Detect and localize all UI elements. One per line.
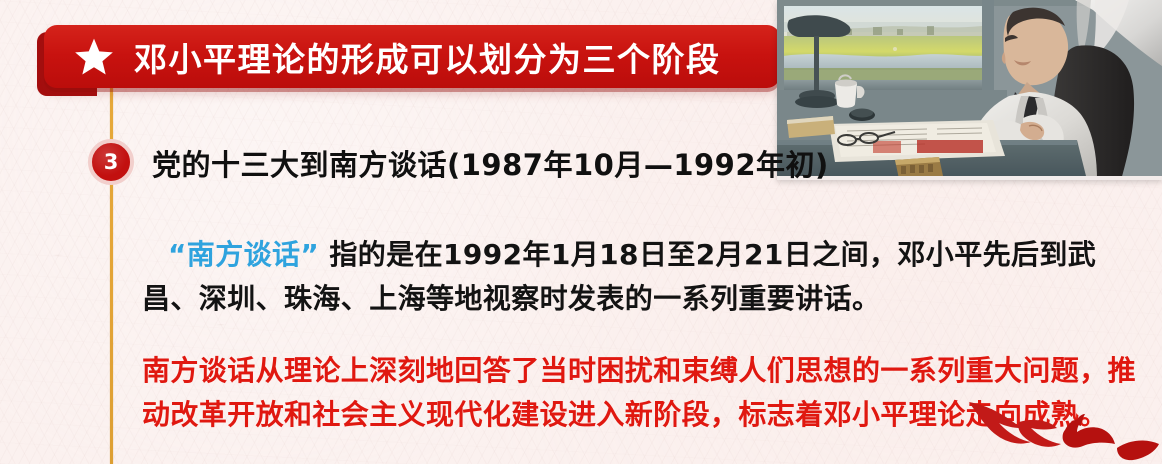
banner-title: 邓小平理论的形成可以划分为三个阶段: [134, 33, 721, 81]
highlight-quote: “南方谈话”: [168, 238, 319, 271]
paragraph-significance: 南方谈话从理论上深刻地回答了当时困扰和束缚人们思想的一系列重大问题，推动改革开放…: [142, 349, 1142, 437]
deng-xiaoping-painting: [777, 0, 1162, 180]
step-number-badge: 3: [88, 139, 134, 185]
star-icon: [74, 37, 114, 77]
slide-canvas: 邓小平理论的形成可以划分为三个阶段: [0, 0, 1162, 464]
step-heading: 党的十三大到南方谈话(1987年10月—1992年初): [152, 142, 829, 184]
title-banner: 邓小平理论的形成可以划分为三个阶段: [44, 25, 780, 88]
body-text-block: “南方谈话” 指的是在1992年1月18日至2月21日之间，邓小平先后到武昌、深…: [142, 205, 1142, 464]
paragraph-definition: “南方谈话” 指的是在1992年1月18日至2月21日之间，邓小平先后到武昌、深…: [142, 233, 1142, 321]
